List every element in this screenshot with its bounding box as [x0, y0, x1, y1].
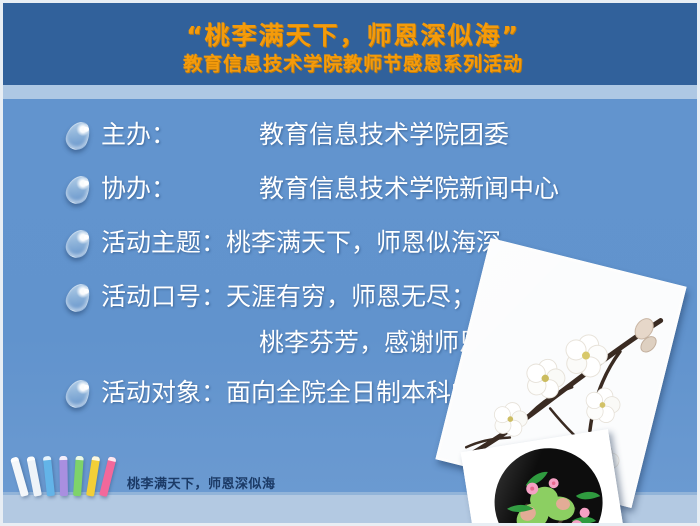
list-item-value: 桃李满天下，师恩似海深 — [226, 223, 501, 263]
list-item: 主办： 教育信息技术学院团委 — [63, 115, 623, 157]
slide-title: “桃李满天下，师恩深似海” — [3, 23, 700, 49]
list-item-label: 活动主题： — [101, 223, 226, 263]
water-drop-icon — [63, 119, 101, 157]
presentation-slide: “桃李满天下，师恩深似海” 教育信息技术学院教师节感恩系列活动 主办： 教育信息… — [0, 0, 700, 526]
chalk-green — [73, 456, 84, 496]
chalk-sticks-decoration — [21, 452, 113, 496]
list-item-value: 天涯有穷，师恩无尽； — [226, 277, 476, 317]
water-drop-icon — [63, 227, 101, 265]
chalk-yellow — [86, 456, 100, 497]
list-item-label: 活动口号： — [101, 277, 226, 317]
chalk-white-2 — [26, 456, 41, 497]
list-item-label: 主办： — [101, 115, 259, 155]
footer-slogan: 桃李满天下，师恩深似海 — [127, 473, 276, 492]
slide-subtitle: 教育信息技术学院教师节感恩系列活动 — [3, 55, 700, 75]
chalk-purple — [59, 456, 68, 496]
list-item-value: 教育信息技术学院新闻中心 — [259, 169, 559, 209]
list-item-label: 协办： — [101, 169, 259, 209]
header-accent-band — [3, 85, 700, 99]
chalk-blue — [43, 456, 55, 497]
water-drop-icon — [63, 281, 101, 319]
water-drop-icon — [63, 173, 101, 211]
list-item-value: 教育信息技术学院团委 — [259, 115, 509, 155]
title-block: “桃李满天下，师恩深似海” 教育信息技术学院教师节感恩系列活动 — [3, 23, 700, 75]
list-item: 协办： 教育信息技术学院新闻中心 — [63, 169, 623, 211]
water-drop-icon — [63, 377, 101, 415]
list-item-label: 活动对象： — [101, 373, 226, 413]
